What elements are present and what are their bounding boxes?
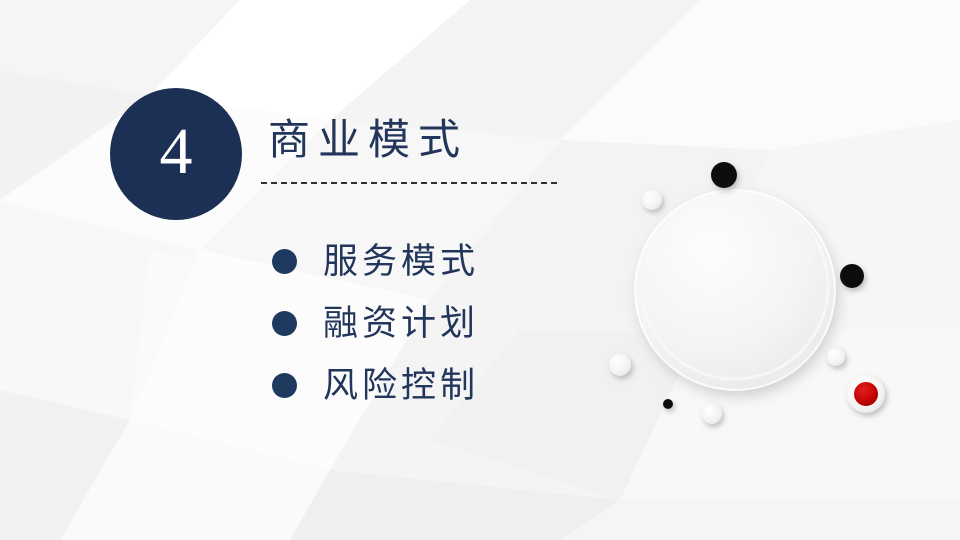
decor-main-circle [635,190,835,390]
section-number-text: 4 [160,119,193,185]
decor-black-dot-right [840,264,864,288]
decor-black-dot-small [663,399,673,409]
decor-white-dot-right [827,348,845,366]
list-item-label: 服务模式 [323,244,479,279]
decor-white-dot-left [609,354,631,376]
list-item-label: 融资计划 [323,306,479,341]
section-number-badge: 4 [110,88,242,220]
decor-black-dot-top [711,162,737,188]
decor-white-dot-upleft [642,190,662,210]
decor-white-dot-bottom [702,404,722,424]
list-item[interactable]: 服务模式 [272,230,592,292]
bullet-dot-icon [272,311,297,336]
bullet-dot-icon [272,373,297,398]
page-title: 商业模式 [268,118,468,164]
bullet-list: 服务模式 融资计划 风险控制 [272,230,592,416]
content-column: 4 商业模式 服务模式 融资计划 风险控制 [0,0,600,540]
list-item-label: 风险控制 [323,368,479,403]
list-item[interactable]: 融资计划 [272,292,592,354]
title-dashed-divider [261,182,557,184]
circle-cluster-graphic [560,110,960,470]
list-item[interactable]: 风险控制 [272,354,592,416]
decor-red-dot [847,375,885,413]
slide-canvas: 4 商业模式 服务模式 融资计划 风险控制 [0,0,960,540]
bullet-dot-icon [272,249,297,274]
